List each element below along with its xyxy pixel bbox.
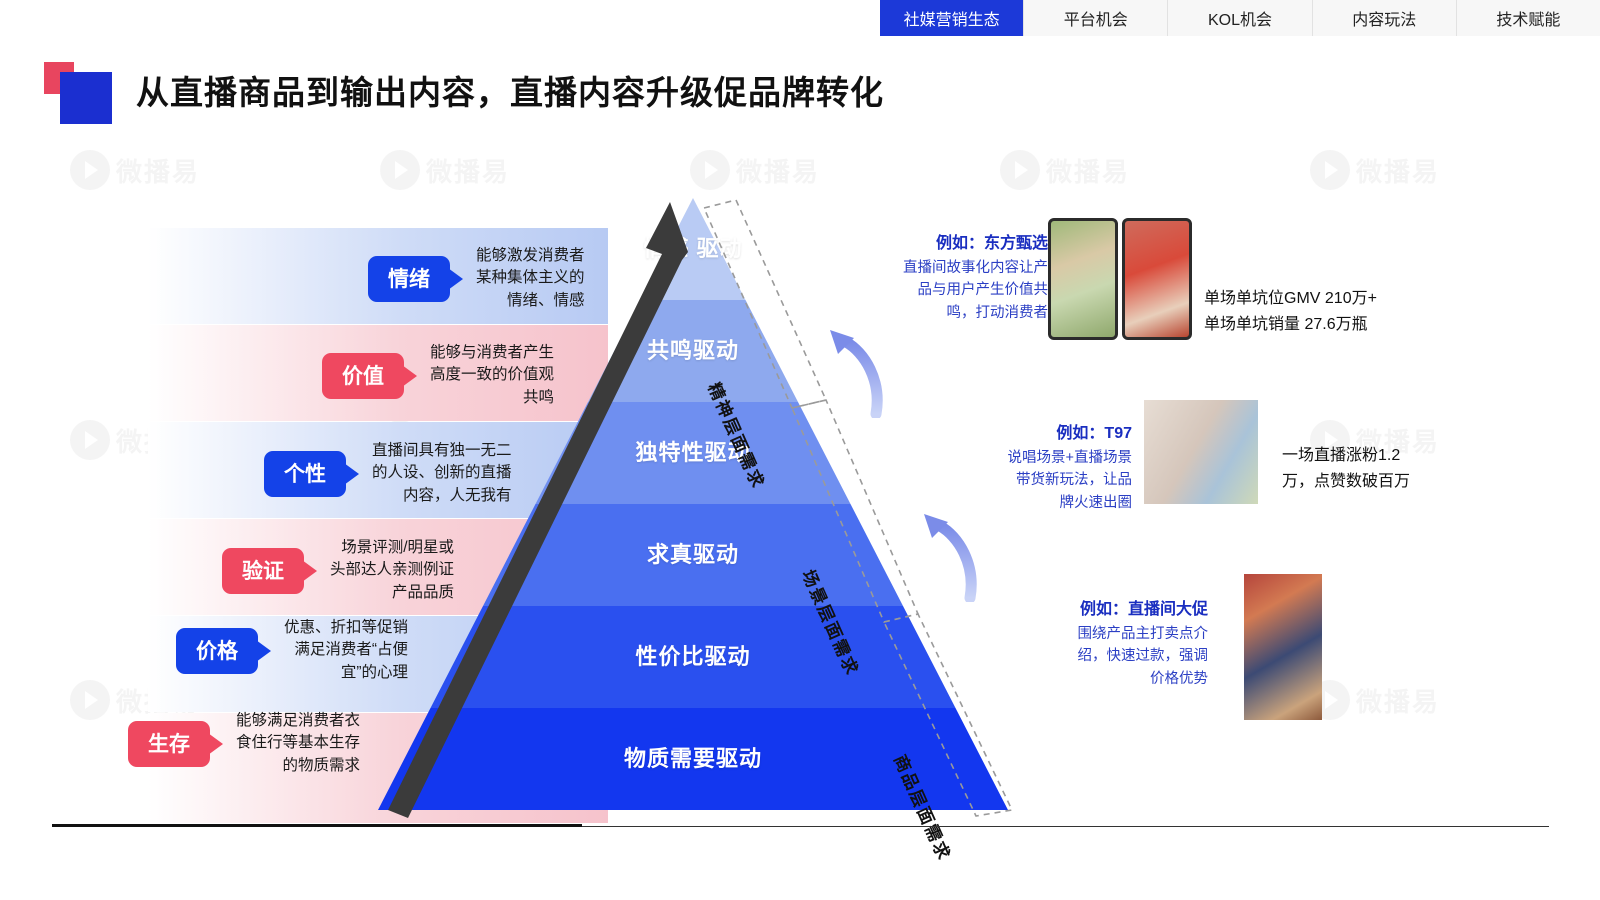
page-header: 从直播商品到输出内容，直播内容升级促品牌转化 (44, 62, 884, 124)
tab-content-play[interactable]: 内容玩法 (1313, 0, 1457, 36)
case-head-text: 例如：东方甄选 (936, 235, 1048, 252)
case-head-3: 例如：直播间大促 (1000, 598, 1208, 623)
phone-thumbnail-right[interactable] (1122, 218, 1192, 340)
case-head-text: 例如：直播间大促 (1080, 601, 1208, 618)
need-tag-emotion[interactable]: 情绪 (368, 256, 450, 302)
need-description-personality: 直播间具有独一无二 的人设、创新的直播 内容，人无我有 (372, 440, 512, 507)
pyramid-layer-label: 性价比驱动 (635, 643, 750, 671)
need-row-personality: 个性 直播间具有独一无二 的人设、创新的直播 内容，人无我有 (264, 440, 512, 507)
brand-logo-icon (44, 62, 114, 124)
need-tag-survival[interactable]: 生存 (128, 721, 210, 767)
case-body-2: 说唱场景+直播场景 带货新玩法，让品 牌火速出圈 (952, 447, 1132, 514)
need-description-price: 优惠、折扣等促销 满足消费者“占便 宜”的心理 (284, 617, 408, 684)
tab-social-marketing-ecosystem[interactable]: 社媒营销生态 (880, 0, 1024, 36)
case-media-3[interactable] (1244, 574, 1322, 720)
case-stat-1: 单场单坑位GMV 210万+ 单场单坑销量 27.6万瓶 (1204, 286, 1377, 337)
case-media-1[interactable] (1048, 218, 1198, 340)
case-head-1: 例如：东方甄选 (858, 232, 1048, 257)
case-body-3: 围绕产品主打卖点介 绍，快速过款，强调 价格优势 (1000, 623, 1208, 690)
need-tag-price[interactable]: 价格 (176, 628, 258, 674)
pyramid-layer-label: 求真驱动 (647, 541, 739, 569)
pyramid-layer-label: 共鸣驱动 (647, 337, 739, 365)
pyramid-layer-value-for-money: 性价比驱动 (378, 606, 1008, 708)
top-tab-bar[interactable]: 社媒营销生态 平台机会 KOL机会 内容玩法 技术赋能 (880, 0, 1600, 36)
need-description-value: 能够与消费者产生 高度一致的价值观 共鸣 (430, 342, 554, 409)
need-row-survival: 生存 能够满足消费者衣 食住行等基本生存 的物质需求 (128, 710, 360, 777)
footer-rule-thick (52, 824, 582, 827)
need-row-price: 价格 优惠、折扣等促销 满足消费者“占便 宜”的心理 (176, 617, 408, 684)
case-live-promo: 例如：直播间大促 围绕产品主打卖点介 绍，快速过款，强调 价格优势 (1000, 598, 1208, 690)
case-media-2[interactable] (1144, 400, 1258, 504)
tab-kol-opportunity[interactable]: KOL机会 (1168, 0, 1312, 36)
need-description-survival: 能够满足消费者衣 食住行等基本生存 的物质需求 (236, 710, 360, 777)
need-row-value: 价值 能够与消费者产生 高度一致的价值观 共鸣 (322, 342, 554, 409)
need-description-verification: 场景评测/明星或 头部达人亲测例证 产品品质 (330, 537, 454, 604)
need-tag-value[interactable]: 价值 (322, 353, 404, 399)
phone-thumbnail-left[interactable] (1048, 218, 1118, 340)
case-dongfang-zhenxuan: 例如：东方甄选 直播间故事化内容让产 品与用户产生价值共 鸣，打动消费者 (858, 232, 1048, 324)
need-tag-verification[interactable]: 验证 (222, 548, 304, 594)
page-title: 从直播商品到输出内容，直播内容升级促品牌转化 (136, 62, 884, 124)
diagram-stage: 情感 驱动 共鸣驱动 独特性驱动 求真驱动 性价比驱动 物质需要驱动 精神层面需… (0, 150, 1600, 810)
case-stat-2: 一场直播涨粉1.2 万，点赞数破百万 (1282, 443, 1410, 494)
logo-blue-square (60, 72, 112, 124)
need-tag-personality[interactable]: 个性 (264, 451, 346, 497)
need-row-verification: 验证 场景评测/明星或 头部达人亲测例证 产品品质 (222, 537, 454, 604)
pyramid-layer-label: 物质需要驱动 (624, 745, 762, 773)
case-head-2: 例如：T97 (952, 422, 1132, 447)
case-head-text: 例如：T97 (1056, 425, 1132, 442)
footer-rule-thin (582, 826, 1549, 827)
pyramid-layer-label: 情感 驱动 (643, 235, 742, 263)
need-description-emotion: 能够激发消费者 某种集体主义的 情绪、情感 (476, 245, 585, 312)
need-row-emotion: 情绪 能够激发消费者 某种集体主义的 情绪、情感 (368, 245, 585, 312)
tab-tech-empowerment[interactable]: 技术赋能 (1457, 0, 1600, 36)
pyramid-layer-authenticity: 求真驱动 (378, 504, 1008, 606)
tab-platform-opportunity[interactable]: 平台机会 (1024, 0, 1168, 36)
case-body-1: 直播间故事化内容让产 品与用户产生价值共 鸣，打动消费者 (858, 257, 1048, 324)
case-t97: 例如：T97 说唱场景+直播场景 带货新玩法，让品 牌火速出圈 (952, 422, 1132, 514)
